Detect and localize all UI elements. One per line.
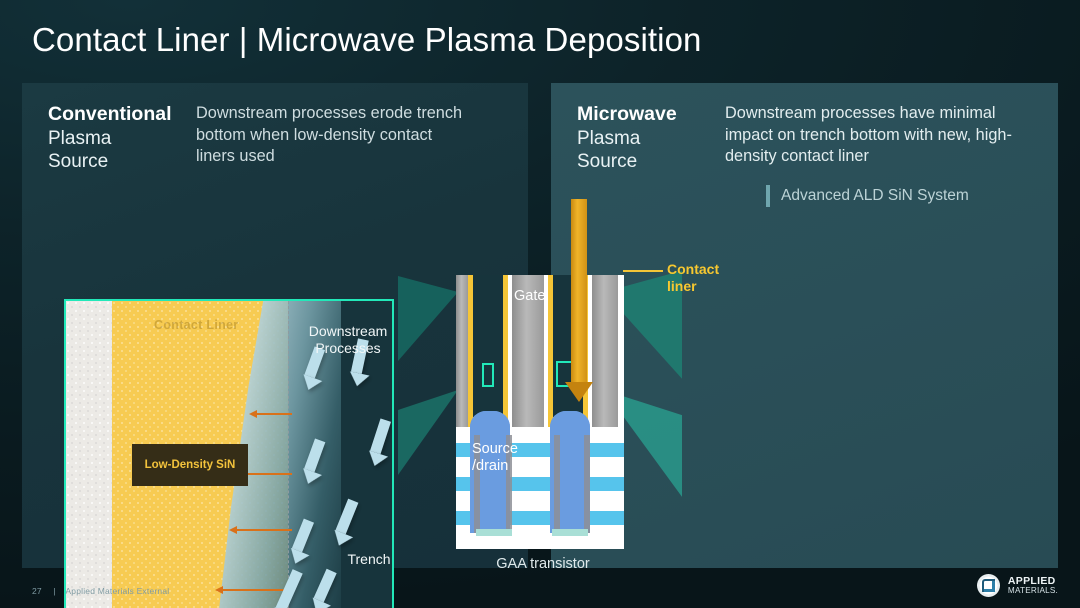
downstream-arrow-3 — [365, 418, 392, 467]
callout-label-1: Contact — [667, 261, 719, 278]
left-reference-dashline — [288, 301, 289, 608]
footer-divider: | — [53, 586, 55, 596]
applied-materials-logo: APPLIED MATERIALS. — [977, 574, 1058, 597]
spacer-bar-3 — [554, 435, 560, 533]
left-substrate-pad — [66, 301, 112, 608]
sd-label-2: /drain — [472, 458, 518, 475]
liner-wall-1 — [468, 275, 473, 427]
left-source-title-bold: Conventional — [48, 103, 176, 127]
left-label-downstream-line-1: Downstream — [298, 323, 394, 340]
erosion-arrow-1 — [256, 413, 292, 415]
left-source-title-normal: Plasma Source — [48, 127, 176, 173]
right-source-title-normal: Plasma Source — [577, 127, 705, 173]
left-panel-header: Conventional Plasma Source Downstream pr… — [48, 103, 464, 173]
page-title: Contact Liner | Microwave Plasma Deposit… — [32, 21, 702, 59]
gate-label: Gate — [514, 288, 545, 304]
left-label-trench: Trench — [334, 551, 394, 568]
erosion-arrow-2 — [244, 473, 292, 475]
callout-label-2: liner — [667, 278, 719, 295]
logo-wordmark: APPLIED MATERIALS. — [1008, 576, 1058, 595]
right-source-title: Microwave Plasma Source — [577, 103, 705, 173]
teal-footer-right — [552, 529, 588, 536]
liner-wall-2 — [503, 275, 508, 427]
callout-text: Advanced ALD SiN System — [781, 187, 969, 205]
gaa-transistor-caption: GAA transistor — [468, 556, 618, 572]
teal-footer-left — [476, 529, 512, 536]
gate-edge-right — [592, 275, 618, 427]
callout-label: Contact liner — [667, 261, 719, 295]
spacer-bar-4 — [584, 435, 590, 533]
left-label-downstream-line-2: Processes — [298, 340, 394, 357]
page-number: 27 — [32, 586, 42, 596]
callout-leader-line — [623, 270, 663, 272]
transistor-cross-section — [456, 275, 624, 549]
left-chip-low-density-sin: Low-Density SiN — [132, 444, 248, 486]
gate-edge-left — [456, 275, 468, 427]
left-label-downstream: DownstreamProcesses — [298, 323, 394, 357]
left-source-title: Conventional Plasma Source — [48, 103, 176, 173]
advanced-ald-callout: Advanced ALD SiN System — [766, 185, 969, 207]
source-drain-label: Source /drain — [472, 441, 518, 475]
sd-label-1: Source — [472, 441, 518, 458]
right-source-title-bold: Microwave — [577, 103, 705, 127]
center-gaa-transistor-diagram: Gate Source /drain GAA transistor Contac… — [398, 200, 682, 580]
left-chip-label: Low-Density SiN — [145, 458, 236, 473]
liner-wall-3 — [548, 275, 553, 427]
footer-text: Applied Materials External — [65, 586, 169, 596]
footer: 27 | Applied Materials External — [32, 586, 169, 596]
right-panel-description: Downstream processes have minimal impact… — [725, 103, 1021, 173]
logo-line-2: MATERIALS. — [1008, 587, 1058, 595]
right-panel-header: Microwave Plasma Source Downstream proce… — [577, 103, 1021, 173]
left-diagram-frame: Contact Liner Low-Density SiN Downstrea — [64, 299, 394, 608]
applied-materials-logo-icon — [977, 574, 1000, 597]
left-panel-description: Downstream processes erode trench bottom… — [196, 103, 464, 173]
left-liner-watermark: Contact Liner — [154, 318, 238, 332]
erosion-arrow-3 — [236, 529, 292, 531]
trench-left — [472, 275, 504, 423]
callout-accent-bar — [766, 185, 770, 207]
highlight-box-left — [482, 363, 494, 387]
